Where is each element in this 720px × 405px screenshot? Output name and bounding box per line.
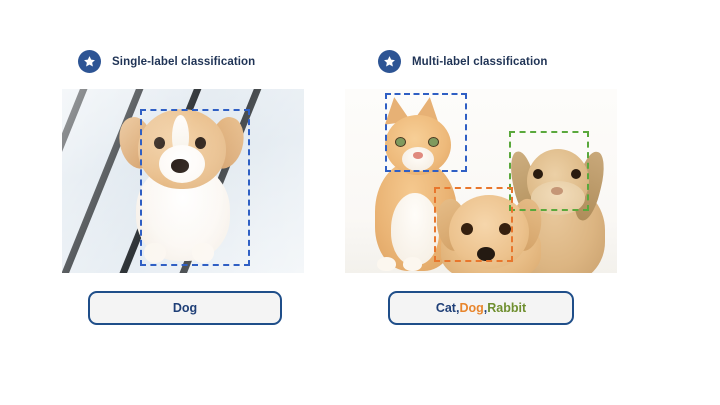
bounding-box-dog bbox=[434, 187, 513, 262]
label-token-cat: Cat bbox=[436, 301, 456, 315]
label-box-multi: Cat , Dog , Rabbit bbox=[388, 291, 574, 325]
heading-multi-label: Multi-label classification bbox=[378, 50, 548, 73]
panel-single-label: Single-label classification Dog bbox=[0, 0, 360, 405]
bounding-box-cat bbox=[385, 93, 467, 172]
label-token-dog: Dog bbox=[459, 301, 483, 315]
star-badge-icon bbox=[378, 50, 401, 73]
heading-multi-label-text: Multi-label classification bbox=[412, 56, 548, 68]
bounding-box-rabbit bbox=[509, 131, 589, 211]
photo-multi-label bbox=[345, 89, 617, 273]
bounding-box-dog bbox=[140, 109, 250, 266]
heading-single-label: Single-label classification bbox=[78, 50, 255, 73]
star-badge-icon bbox=[78, 50, 101, 73]
label-token-dog: Dog bbox=[173, 301, 197, 315]
heading-single-label-text: Single-label classification bbox=[112, 56, 255, 68]
label-box-single: Dog bbox=[88, 291, 282, 325]
label-token-rabbit: Rabbit bbox=[487, 301, 526, 315]
photo-single-label bbox=[62, 89, 304, 273]
